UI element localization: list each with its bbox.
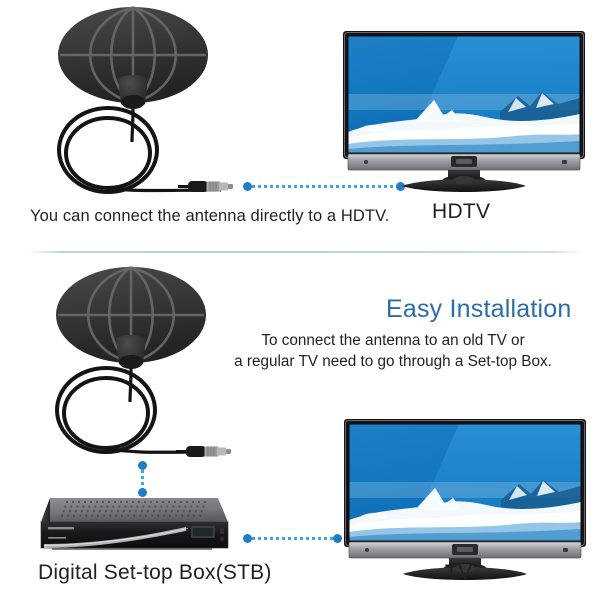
stb-label: Digital Set-top Box(STB): [38, 561, 272, 585]
connector-line-stb-to-tv: [252, 537, 335, 540]
digital-set-top-box: [36, 492, 232, 564]
hdtv-top: [340, 28, 588, 196]
easy-installation-subtext-line1: To connect the antenna to an old TV or: [198, 330, 588, 351]
connector-line-antenna-to-stb: [141, 470, 144, 489]
top-caption: You can connect the antenna directly to …: [30, 207, 389, 226]
product-infographic: HDTV You can connect the antenna directl…: [0, 0, 600, 600]
easy-installation-heading: Easy Installation: [386, 295, 571, 324]
tv-label: TV: [445, 561, 472, 585]
section-divider: [28, 251, 584, 253]
antenna-top: [46, 2, 221, 202]
coax-connector-top: [178, 178, 240, 196]
coax-connector-bottom: [176, 443, 238, 461]
easy-installation-subtext: To connect the antenna to an old TV or a…: [198, 330, 588, 372]
connector-dot-start-top: [243, 182, 252, 191]
antenna-bottom: [44, 262, 219, 462]
connector-dot-start-stb-tv: [243, 534, 252, 543]
hdtv-label: HDTV: [432, 200, 490, 224]
connector-dot-start-bottom: [138, 461, 147, 470]
easy-installation-subtext-line2: a regular TV need to go through a Set-to…: [198, 351, 588, 372]
tv-bottom: [341, 416, 589, 584]
